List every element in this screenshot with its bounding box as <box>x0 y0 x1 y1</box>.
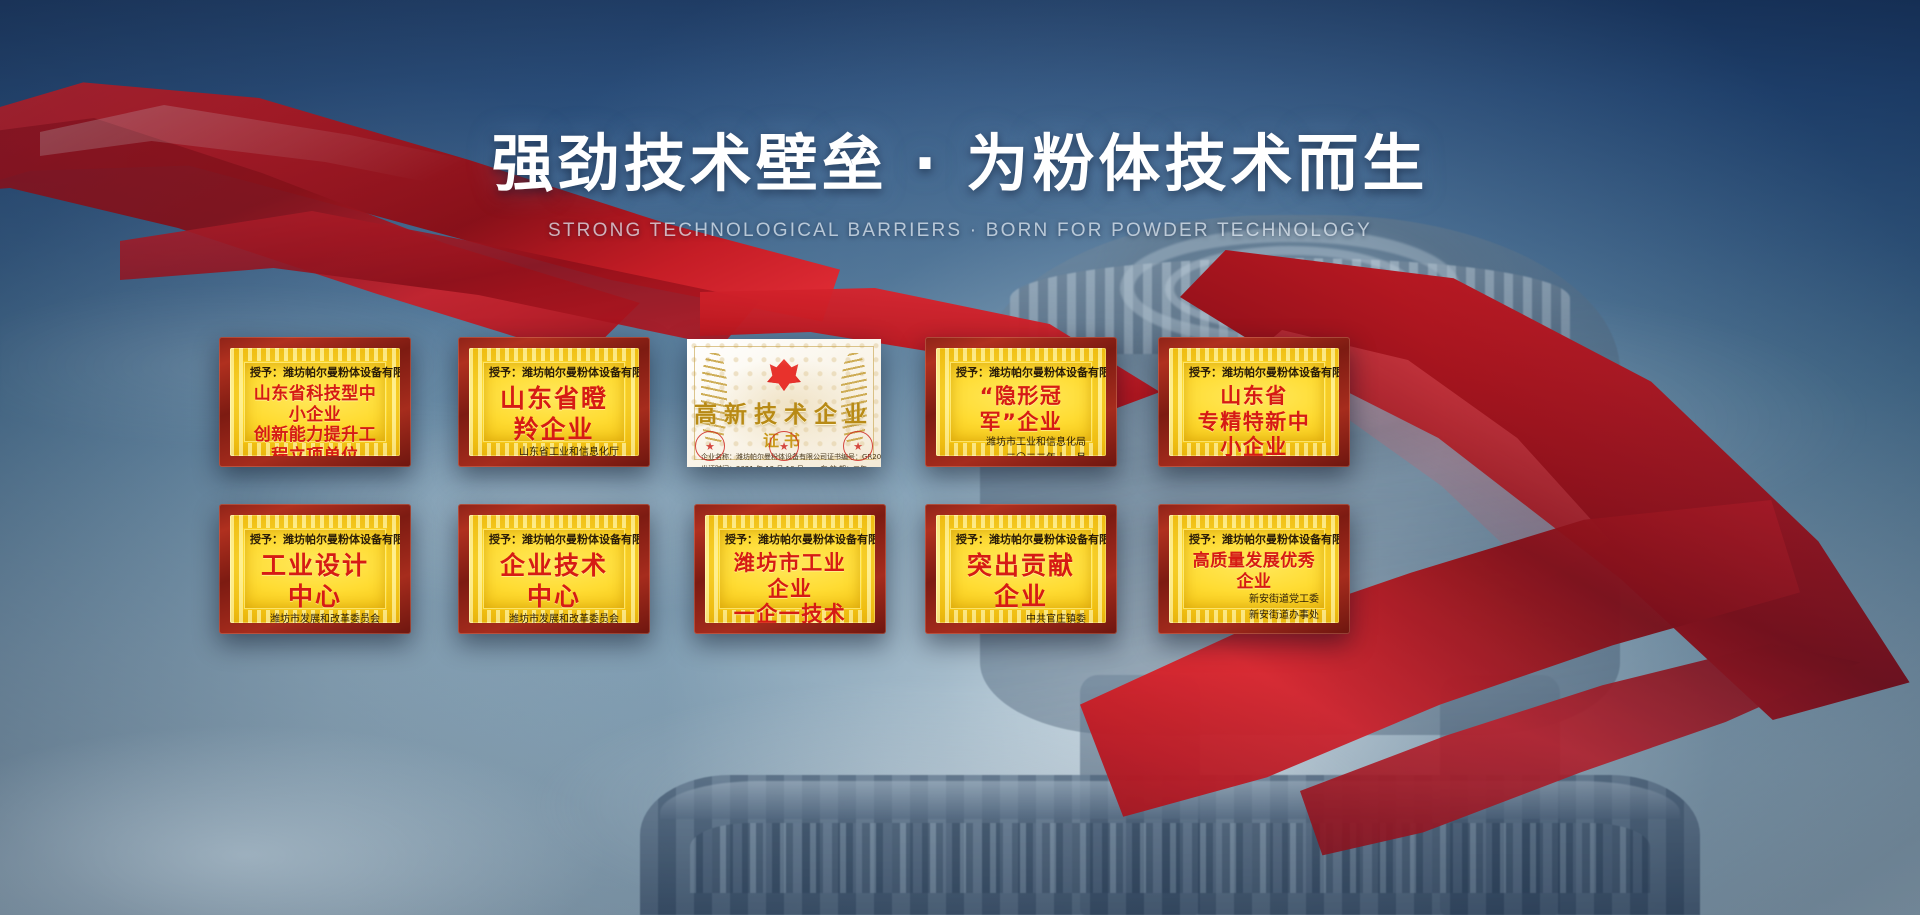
plaque-title: 山东省 专精特新中小企业 <box>1189 384 1319 456</box>
plaque-face: 授予：潍坊帕尔曼粉体设备有限公司 突出贡献企业 中共官庄镇委 官庄镇人民政府 二… <box>936 515 1106 623</box>
plaque-footer: 潍坊市发展和改革委员会 二〇二二年七月 <box>250 612 380 623</box>
plaque-award-line: 授予：潍坊帕尔曼粉体设备有限公司 <box>956 531 1086 547</box>
field-value: 三年 <box>853 463 867 467</box>
plaque-face: 授予：潍坊帕尔曼粉体设备有限公司 工业设计中心 潍坊市发展和改革委员会 二〇二二… <box>230 515 400 623</box>
plaque-award-line: 授予：潍坊帕尔曼粉体设备有限公司 <box>489 364 619 380</box>
plaque-title-line: “隐形冠军”企业 <box>956 384 1086 435</box>
official-seal-icon <box>769 431 799 461</box>
plaque-title: 企业技术中心 <box>489 551 619 612</box>
plaque-title-line: 专精特新中小企业 <box>1189 410 1319 456</box>
plaque-issuer: 山东省工业和信息化厅 <box>489 445 619 456</box>
high-tech-enterprise-certificate[interactable]: 高新技术企业 证书 企业名称：潍坊帕尔曼粉体设备有限公司 证书编号：GR2021… <box>687 339 881 467</box>
plaque-title: 山东省瞪羚企业 <box>489 384 619 445</box>
field-value: 2021 年 12 月 10 日 <box>736 463 804 467</box>
award-plaque-gaozhiliang[interactable]: 授予：潍坊帕尔曼粉体设备有限公司 高质量发展优秀企业 新安街道党工委 新安街道办… <box>1158 504 1350 634</box>
plaque-title-line: 工业设计中心 <box>250 551 380 612</box>
plaque-award-line: 授予：潍坊帕尔曼粉体设备有限公司 <box>489 531 619 547</box>
plaque-title-line: 突出贡献企业 <box>956 551 1086 612</box>
award-plaque-yiqiyiji[interactable]: 授予：潍坊帕尔曼粉体设备有限公司 潍坊市工业企业 一企一技术研发中心企业 潍坊市… <box>694 504 886 634</box>
award-plaque-dengling[interactable]: 授予：潍坊帕尔曼粉体设备有限公司 山东省瞪羚企业 山东省工业和信息化厅 二〇二三… <box>458 337 650 467</box>
plaque-title: 突出贡献企业 <box>956 551 1086 612</box>
plaque-footer: 潍坊市工业和信息化局 二〇二二年十一月 <box>956 435 1086 456</box>
plaque-award-line: 授予：潍坊帕尔曼粉体设备有限公司 <box>725 531 855 547</box>
plaque-title-line: 潍坊市工业企业 <box>725 551 855 602</box>
plaque-title-line: 创新能力提升工程立项单位 <box>250 425 380 456</box>
plaque-issuer: 潍坊市发展和改革委员会 <box>250 612 380 623</box>
certificate-field-row: 发证时间：2021 年 12 月 10 日 有 效 期：三年 <box>701 463 867 467</box>
award-plaque-tuchu-gongxian[interactable]: 授予：潍坊帕尔曼粉体设备有限公司 突出贡献企业 中共官庄镇委 官庄镇人民政府 二… <box>925 504 1117 634</box>
plaque-award-line: 授予：潍坊帕尔曼粉体设备有限公司 <box>250 364 380 380</box>
plaque-title-line: 企业技术中心 <box>489 551 619 612</box>
certificate-seals <box>687 431 881 461</box>
plaque-face: 授予：潍坊帕尔曼粉体设备有限公司 企业技术中心 潍坊市发展和改革委员会 二〇二二… <box>469 515 639 623</box>
plaque-face: 授予：潍坊帕尔曼粉体设备有限公司 山东省科技型中小企业 创新能力提升工程立项单位… <box>230 348 400 456</box>
plaque-face: 授予：潍坊帕尔曼粉体设备有限公司 “隐形冠军”企业 潍坊市工业和信息化局 二〇二… <box>936 348 1106 456</box>
plaque-title: 山东省科技型中小企业 创新能力提升工程立项单位 <box>250 384 380 456</box>
plaque-footer: 潍坊市发展和改革委员会 二〇二二年七月 <box>489 612 619 623</box>
award-plaque-yinxing-guanjun[interactable]: 授予：潍坊帕尔曼粉体设备有限公司 “隐形冠军”企业 潍坊市工业和信息化局 二〇二… <box>925 337 1117 467</box>
plaque-title: 工业设计中心 <box>250 551 380 612</box>
plaque-title-line: 山东省科技型中小企业 <box>250 384 380 425</box>
plaque-footer: 山东省工业和信息化厅 二〇二三年七月 <box>489 445 619 456</box>
banner-stage: 强劲技术壁垒 · 为粉体技术而生 STRONG TECHNOLOGICAL BA… <box>0 0 1920 915</box>
plaque-title-line: 高质量发展优秀企业 <box>1189 551 1319 592</box>
certificate-title: 高新技术企业 <box>687 395 881 429</box>
award-plaque-kejixing[interactable]: 授予：潍坊帕尔曼粉体设备有限公司 山东省科技型中小企业 创新能力提升工程立项单位… <box>219 337 411 467</box>
plaque-award-line: 授予：潍坊帕尔曼粉体设备有限公司 <box>956 364 1086 380</box>
plaque-title-line: 一企一技术研发中心企业 <box>725 602 855 623</box>
plaque-award-line: 授予：潍坊帕尔曼粉体设备有限公司 <box>250 531 380 547</box>
plaque-face: 授予：潍坊帕尔曼粉体设备有限公司 潍坊市工业企业 一企一技术研发中心企业 潍坊市… <box>705 515 875 623</box>
award-plaque-zhuanjingtexin[interactable]: 授予：潍坊帕尔曼粉体设备有限公司 山东省 专精特新中小企业 山东省工业和信息化厅 <box>1158 337 1350 467</box>
plaque-award-line: 授予：潍坊帕尔曼粉体设备有限公司 <box>1189 531 1319 547</box>
plaque-title-line: 山东省瞪羚企业 <box>489 384 619 445</box>
plaque-issuer-secondary: 新安街道办事处 <box>1189 608 1319 623</box>
field-label: 发证时间： <box>701 463 736 467</box>
award-plaque-qiye-jishu[interactable]: 授予：潍坊帕尔曼粉体设备有限公司 企业技术中心 潍坊市发展和改革委员会 二〇二二… <box>458 504 650 634</box>
plaque-title: 潍坊市工业企业 一企一技术研发中心企业 <box>725 551 855 623</box>
plaque-face: 授予：潍坊帕尔曼粉体设备有限公司 山东省瞪羚企业 山东省工业和信息化厅 二〇二三… <box>469 348 639 456</box>
awards-grid: 授予：潍坊帕尔曼粉体设备有限公司 山东省科技型中小企业 创新能力提升工程立项单位… <box>0 0 1920 915</box>
plaque-title: 高质量发展优秀企业 <box>1189 551 1319 592</box>
official-seal-icon <box>843 431 873 461</box>
plaque-footer: 新安街道党工委 新安街道办事处 二〇二三年二月 <box>1189 592 1319 623</box>
plaque-title: “隐形冠军”企业 <box>956 384 1086 435</box>
plaque-face: 授予：潍坊帕尔曼粉体设备有限公司 山东省 专精特新中小企业 山东省工业和信息化厅 <box>1169 348 1339 456</box>
plaque-title-line: 山东省 <box>1220 384 1288 410</box>
plaque-footer: 中共官庄镇委 官庄镇人民政府 二〇二〇年一月 <box>956 612 1086 623</box>
award-plaque-gongye-sheji[interactable]: 授予：潍坊帕尔曼粉体设备有限公司 工业设计中心 潍坊市发展和改革委员会 二〇二二… <box>219 504 411 634</box>
plaque-issuer: 潍坊市发展和改革委员会 <box>489 612 619 623</box>
plaque-date: 二〇二二年十一月 <box>956 451 1086 456</box>
field-label: 有 效 期： <box>821 463 853 467</box>
plaque-award-line: 授予：潍坊帕尔曼粉体设备有限公司 <box>1189 364 1319 380</box>
plaque-face: 授予：潍坊帕尔曼粉体设备有限公司 高质量发展优秀企业 新安街道党工委 新安街道办… <box>1169 515 1339 623</box>
plaque-issuer: 潍坊市工业和信息化局 <box>956 435 1086 451</box>
official-seal-icon <box>695 431 725 461</box>
plaque-issuer: 中共官庄镇委 <box>956 612 1086 623</box>
plaque-issuer: 新安街道党工委 <box>1189 592 1319 608</box>
